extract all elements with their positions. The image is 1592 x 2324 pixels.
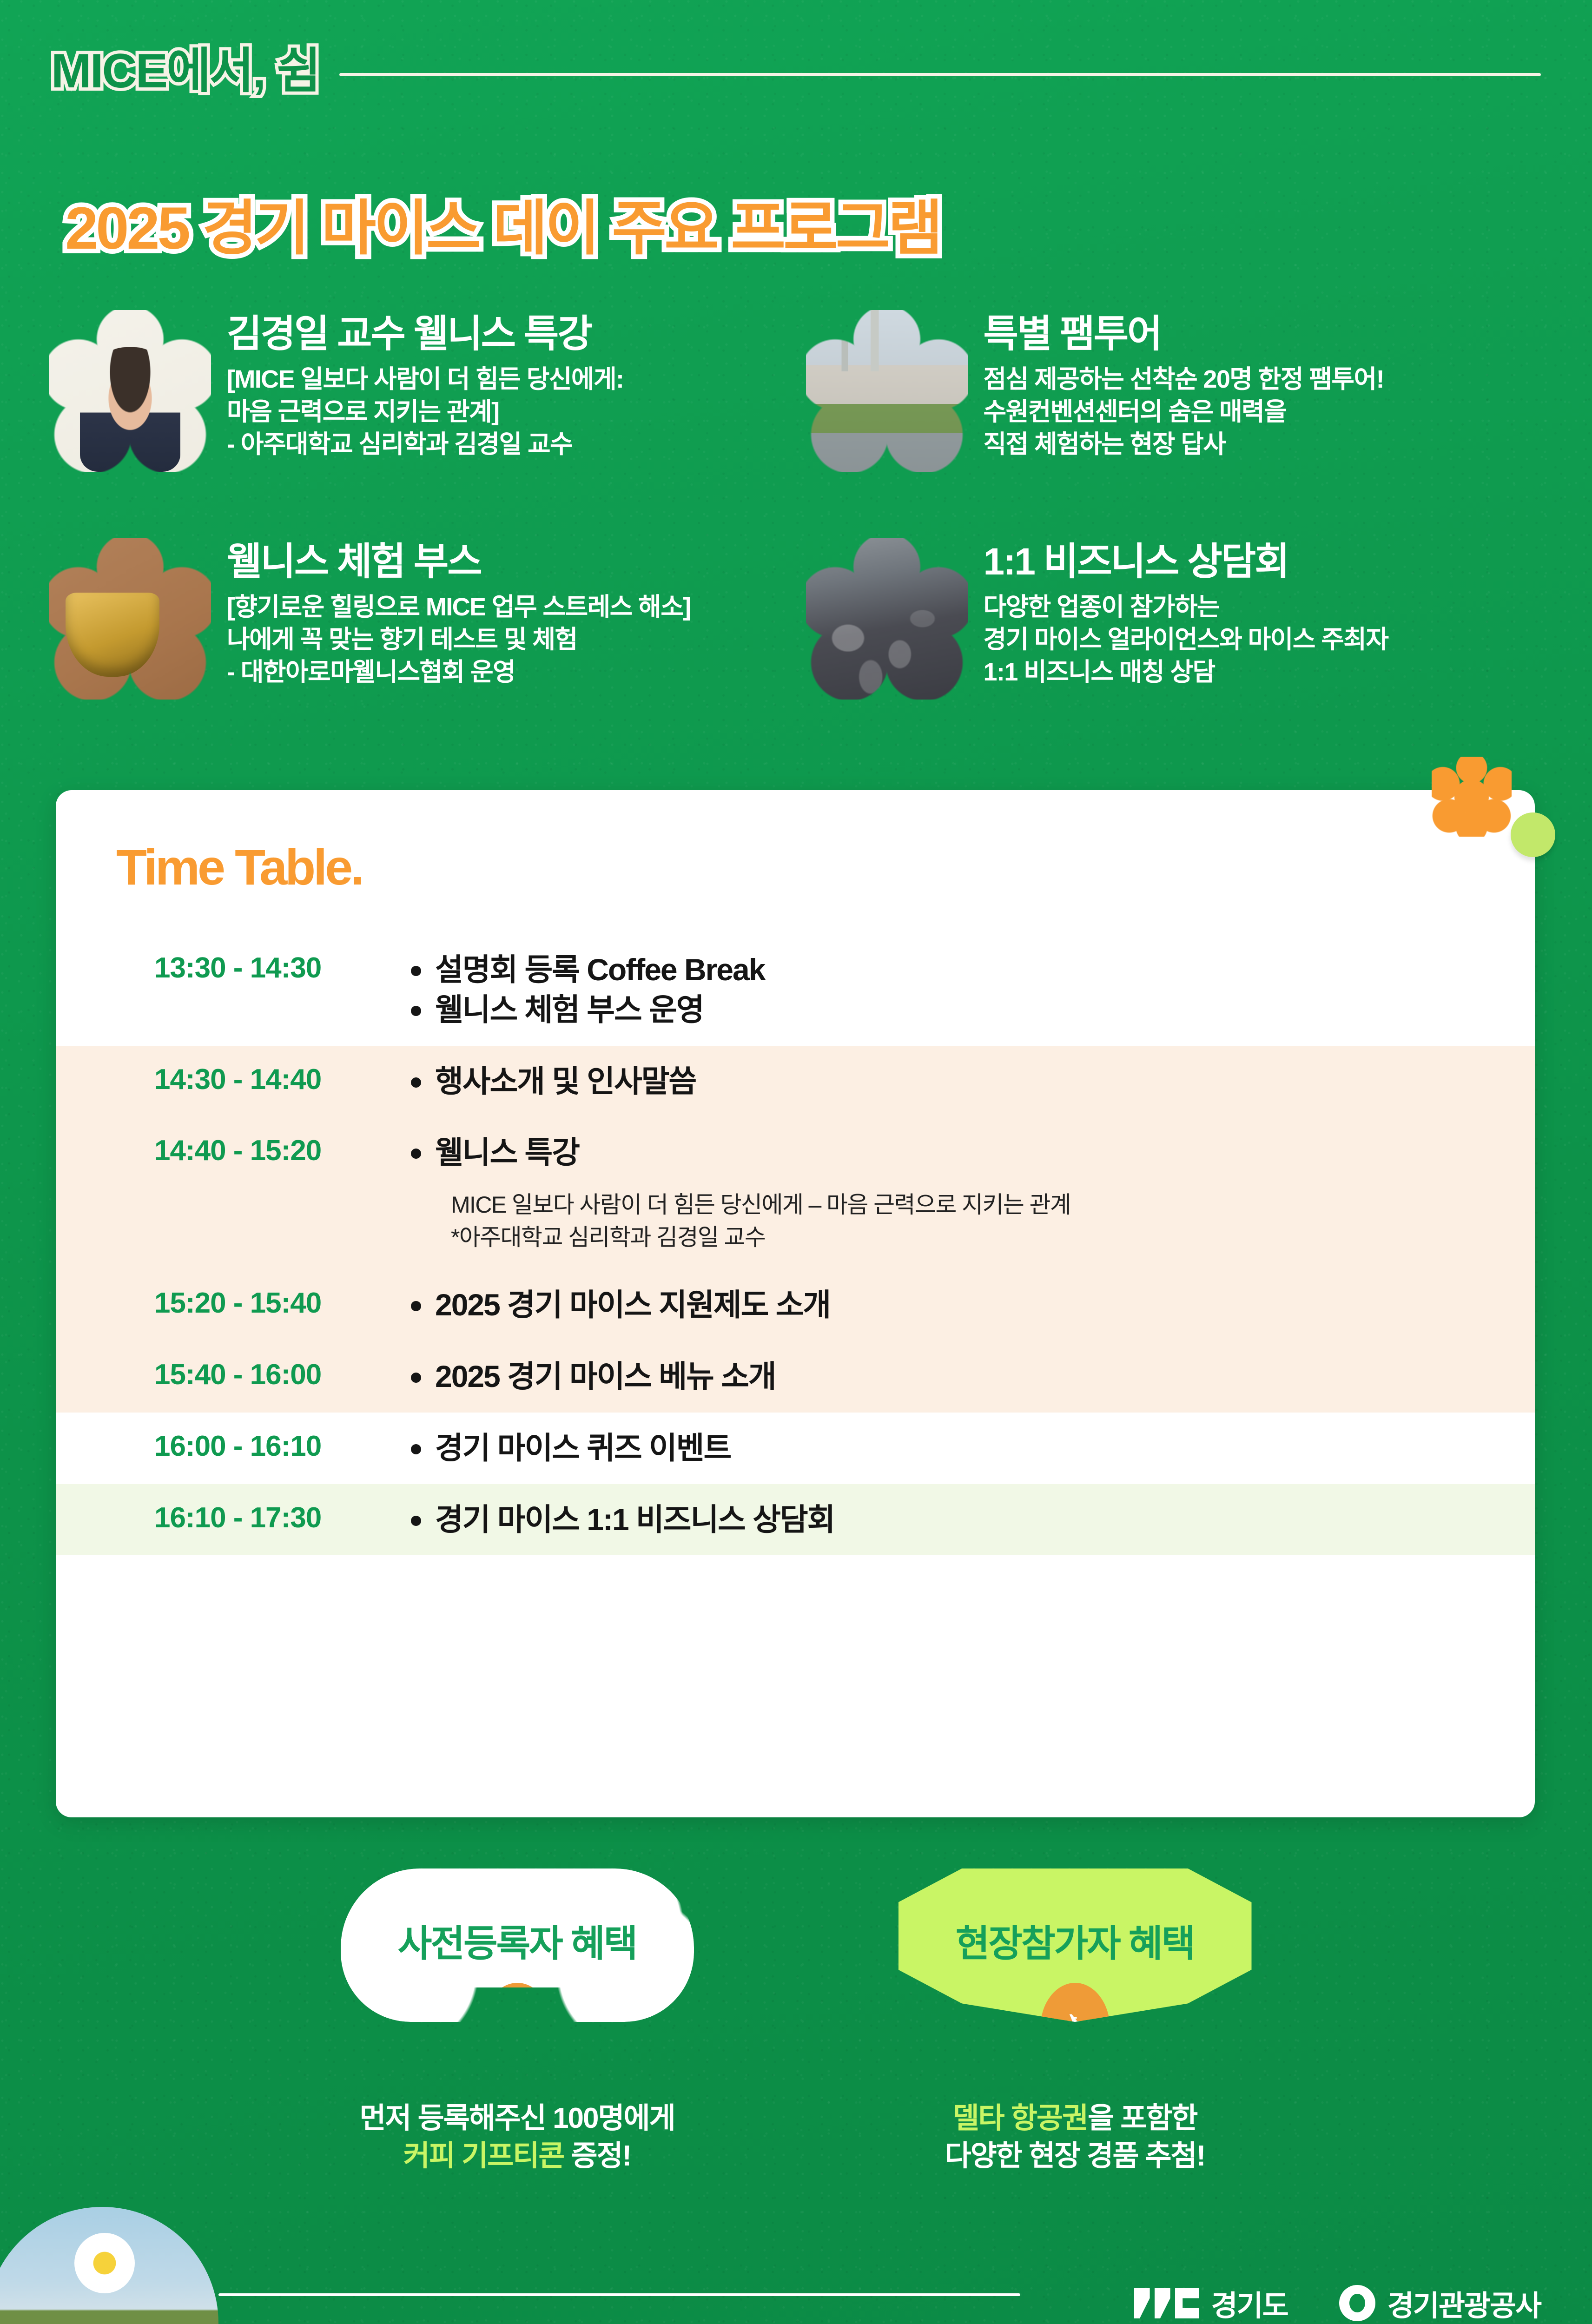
timetable-rows: 13:30 - 14:30 설명회 등록 Coffee Break 웰니스 체험…	[56, 934, 1535, 1555]
timetable-item: 경기 마이스 퀴즈 이벤트	[409, 1428, 1493, 1468]
timetable-item: 경기 마이스 1:1 비즈니스 상담회	[409, 1500, 1493, 1540]
table-row: 15:20 - 15:40 2025 경기 마이스 지원제도 소개	[56, 1269, 1535, 1341]
benefit-badge-label: 현장참가자 혜택	[956, 1914, 1194, 1967]
footer: 경기도 경기관광공사	[0, 2207, 1592, 2324]
timetable-items: 2025 경기 마이스 베뉴 소개	[409, 1357, 1535, 1397]
timetable-subtext-line: *아주대학교 심리학과 김경일 교수	[451, 1221, 1493, 1254]
table-row: 15:40 - 16:00 2025 경기 마이스 베뉴 소개	[56, 1341, 1535, 1413]
timetable-item: 웰니스 특강	[409, 1133, 1493, 1173]
program-title: 특별 팸투어	[984, 313, 1384, 356]
footer-divider	[218, 2293, 1020, 2296]
gyeonggi-province-logo: 경기도	[1134, 2282, 1288, 2324]
benefit-description: 델타 항공권을 포함한 다양한 현장 경품 추첨!	[866, 2100, 1284, 2175]
program-thumbnail	[49, 310, 211, 472]
timetable-items: 웰니스 특강 MICE 일보다 사람이 더 힘든 당신에게 – 마음 근력으로 …	[409, 1133, 1535, 1254]
brand-logo: MICE에서, 쉼	[51, 47, 320, 95]
program-body: 김경일 교수 웰니스 특강 [MICE 일보다 사람이 더 힘든 당신에게: 마…	[227, 310, 623, 461]
poster-root: MICE에서, 쉼 2025 경기 마이스 데이 주요 프로그램 김경일 교수 …	[0, 0, 1592, 2324]
program-line: 마음 근력으로 지키는 관계]	[227, 396, 623, 428]
timetable-time: 15:20 - 15:40	[56, 1285, 409, 1321]
timetable-items: 설명회 등록 Coffee Break 웰니스 체험 부스 운영	[409, 950, 1535, 1030]
program-line: 수원컨벤션센터의 숨은 매력을	[984, 396, 1384, 428]
benefit-description: 먼저 등록해주신 100명에게 커피 기프티콘 증정!	[308, 2100, 727, 2175]
gyeonggi-tourism-org-logo-mark	[1339, 2285, 1375, 2321]
benefit-badge-label: 사전등록자 혜택	[398, 1914, 636, 1967]
program-title: 1:1 비즈니스 상담회	[984, 541, 1388, 583]
benefit-highlight: 커피 기프티콘	[403, 2140, 564, 2172]
program-line: - 대한아로마웰니스협회 운영	[227, 656, 691, 688]
benefit-badge: 현장참가자 혜택 ✈	[898, 1868, 1252, 2022]
program-card: 웰니스 체험 부스 [향기로운 힐링으로 MICE 업무 스트레스 해소] 나에…	[45, 532, 792, 760]
benefit-plain: 증정!	[564, 2140, 631, 2172]
program-thumbnail	[806, 538, 968, 700]
table-row: 16:10 - 17:30 경기 마이스 1:1 비즈니스 상담회	[56, 1484, 1535, 1556]
benefit-onsite: 현장참가자 혜택 ✈ 델타 항공권을 포함한 다양한 현장 경품 추첨!	[866, 1868, 1284, 2175]
program-line: 직접 체험하는 현장 답사	[984, 428, 1384, 461]
table-row: 14:40 - 15:20 웰니스 특강 MICE 일보다 사람이 더 힘든 당…	[56, 1117, 1535, 1269]
program-card: 김경일 교수 웰니스 특강 [MICE 일보다 사람이 더 힘든 당신에게: 마…	[45, 304, 792, 532]
benefit-badge: 사전등록자 혜택 ☕	[341, 1868, 694, 2022]
airplane-icon: ✈	[1040, 1983, 1110, 2074]
program-description: [MICE 일보다 사람이 더 힘든 당신에게: 마음 근력으로 지키는 관계]…	[227, 363, 623, 461]
program-line: - 아주대학교 심리학과 김경일 교수	[227, 428, 623, 461]
timetable-time: 14:30 - 14:40	[56, 1062, 409, 1098]
timetable-item: 2025 경기 마이스 지원제도 소개	[409, 1285, 1493, 1325]
timetable-time: 16:00 - 16:10	[56, 1428, 409, 1465]
brand-header: MICE에서, 쉼	[51, 41, 1541, 101]
program-card-grid: 김경일 교수 웰니스 특강 [MICE 일보다 사람이 더 힘든 당신에게: 마…	[45, 304, 1548, 760]
benefits-section: 사전등록자 혜택 ☕ 먼저 등록해주신 100명에게 커피 기프티콘 증정! 현…	[0, 1868, 1592, 2175]
program-card: 1:1 비즈니스 상담회 다양한 업종이 참가하는 경기 마이스 얼라이언스와 …	[801, 532, 1549, 760]
timetable-items: 경기 마이스 퀴즈 이벤트	[409, 1428, 1535, 1468]
program-line: 경기 마이스 얼라이언스와 마이스 주최자	[984, 623, 1388, 656]
table-row: 13:30 - 14:30 설명회 등록 Coffee Break 웰니스 체험…	[56, 934, 1535, 1046]
timetable-items: 행사소개 및 인사말씀	[409, 1062, 1535, 1102]
timetable-items: 경기 마이스 1:1 비즈니스 상담회	[409, 1500, 1535, 1540]
program-line: 다양한 업종이 참가하는	[984, 591, 1388, 623]
timetable-subtext-line: MICE 일보다 사람이 더 힘든 당신에게 – 마음 근력으로 지키는 관계	[451, 1188, 1493, 1221]
program-body: 특별 팸투어 점심 제공하는 선착순 20명 한정 팸투어! 수원컨벤션센터의 …	[984, 310, 1384, 461]
benefit-desc-line: 다양한 현장 경품 추첨!	[866, 2138, 1284, 2175]
timetable-items: 2025 경기 마이스 지원제도 소개	[409, 1285, 1535, 1325]
benefit-desc-line: 먼저 등록해주신 100명에게	[308, 2100, 727, 2138]
coffee-cup-icon: ☕	[482, 1983, 552, 2074]
logo-label: 경기도	[1211, 2282, 1288, 2324]
table-row: 16:00 - 16:10 경기 마이스 퀴즈 이벤트	[56, 1413, 1535, 1484]
benefit-highlight: 델타 항공권	[953, 2102, 1088, 2134]
program-line: 점심 제공하는 선착순 20명 한정 팸투어!	[984, 363, 1384, 396]
program-line: 나에게 꼭 맞는 향기 테스트 및 체험	[227, 623, 691, 656]
singing-bowl-flower-photo	[49, 538, 211, 700]
hand-holding-daisy-photo	[0, 2207, 218, 2324]
page-title: 2025 경기 마이스 데이 주요 프로그램	[65, 195, 940, 262]
timetable-time: 14:40 - 15:20	[56, 1133, 409, 1169]
header-divider	[339, 73, 1541, 76]
timetable-item: 행사소개 및 인사말씀	[409, 1062, 1493, 1102]
lime-circle-decoration-icon	[1511, 812, 1555, 857]
timetable-subtext: MICE 일보다 사람이 더 힘든 당신에게 – 마음 근력으로 지키는 관계 …	[409, 1188, 1493, 1254]
table-row: 14:30 - 14:40 행사소개 및 인사말씀	[56, 1046, 1535, 1117]
timetable-card: Time Table. 13:30 - 14:30 설명회 등록 Coffee …	[56, 790, 1535, 1817]
timetable-heading: Time Table.	[116, 842, 362, 892]
timetable-item: 웰니스 체험 부스 운영	[409, 990, 1493, 1030]
gyeonggi-province-logo-mark	[1134, 2288, 1199, 2318]
program-body: 웰니스 체험 부스 [향기로운 힐링으로 MICE 업무 스트레스 해소] 나에…	[227, 538, 691, 688]
footer-logos: 경기도 경기관광공사	[1134, 2282, 1541, 2324]
program-description: [향기로운 힐링으로 MICE 업무 스트레스 해소] 나에게 꼭 맞는 향기 …	[227, 591, 691, 689]
gyeonggi-tourism-org-logo: 경기관광공사	[1339, 2282, 1541, 2324]
program-thumbnail	[49, 538, 211, 700]
timetable-time: 15:40 - 16:00	[56, 1357, 409, 1393]
program-description: 다양한 업종이 참가하는 경기 마이스 얼라이언스와 마이스 주최자 1:1 비…	[984, 591, 1388, 689]
program-title: 웰니스 체험 부스	[227, 541, 691, 583]
benefit-preregistration: 사전등록자 혜택 ☕ 먼저 등록해주신 100명에게 커피 기프티콘 증정!	[308, 1868, 727, 2175]
benefit-desc-line: 델타 항공권을 포함한	[866, 2100, 1284, 2138]
timetable-item: 설명회 등록 Coffee Break	[409, 950, 1493, 990]
business-meeting-flower-photo	[806, 538, 968, 700]
program-body: 1:1 비즈니스 상담회 다양한 업종이 참가하는 경기 마이스 얼라이언스와 …	[984, 538, 1388, 688]
program-line: [향기로운 힐링으로 MICE 업무 스트레스 해소]	[227, 591, 691, 623]
program-card: 특별 팸투어 점심 제공하는 선착순 20명 한정 팸투어! 수원컨벤션센터의 …	[801, 304, 1549, 532]
timetable-time: 13:30 - 14:30	[56, 950, 409, 986]
program-line: 1:1 비즈니스 매칭 상담	[984, 656, 1388, 688]
program-title: 김경일 교수 웰니스 특강	[227, 313, 623, 356]
speaker-portrait-flower-photo	[49, 310, 211, 472]
program-thumbnail	[806, 310, 968, 472]
benefit-desc-line: 커피 기프티콘 증정!	[308, 2138, 727, 2175]
timetable-time: 16:10 - 17:30	[56, 1500, 409, 1536]
timetable-item: 2025 경기 마이스 베뉴 소개	[409, 1357, 1493, 1397]
program-line: [MICE 일보다 사람이 더 힘든 당신에게:	[227, 363, 623, 396]
convention-center-flower-photo	[806, 310, 968, 472]
flower-decoration-icon	[1432, 757, 1512, 837]
benefit-plain: 을 포함한	[1088, 2102, 1197, 2134]
program-description: 점심 제공하는 선착순 20명 한정 팸투어! 수원컨벤션센터의 숨은 매력을 …	[984, 363, 1384, 461]
logo-label: 경기관광공사	[1387, 2282, 1541, 2324]
